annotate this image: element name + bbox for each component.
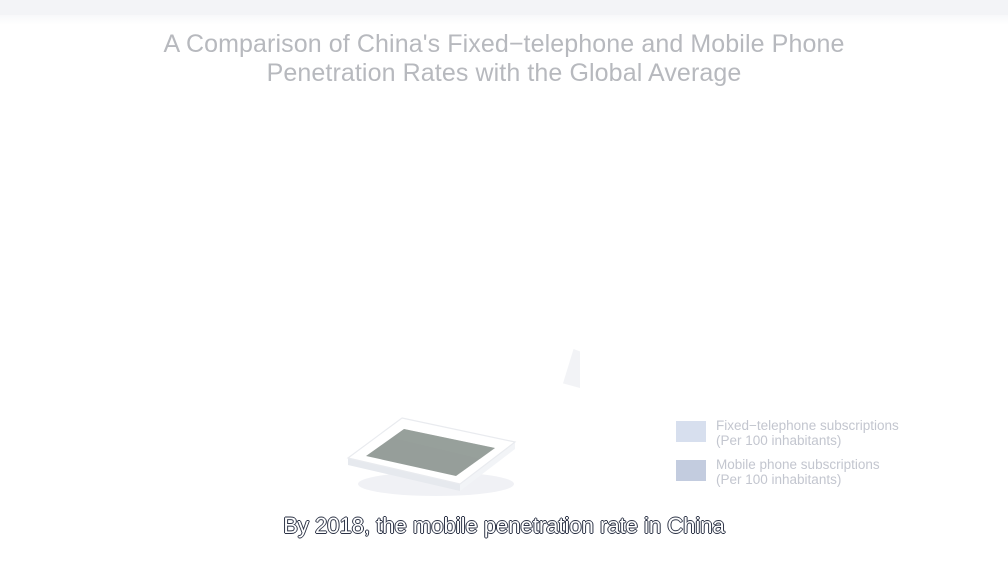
legend-label-fixed-telephone: Fixed−telephone subscriptions (Per 100 i… bbox=[716, 418, 899, 448]
narration-caption: By 2018, the mobile penetration rate in … bbox=[0, 512, 1008, 540]
legend-swatch-mobile-phone bbox=[676, 460, 706, 481]
chart-legend: Fixed−telephone subscriptions (Per 100 i… bbox=[676, 418, 976, 496]
top-edge-band bbox=[0, 0, 1008, 15]
chart-title: A Comparison of China's Fixed−telephone … bbox=[0, 30, 1008, 88]
chart-plot-area bbox=[70, 105, 970, 405]
top-edge-band-fade bbox=[0, 15, 1008, 25]
legend-item-fixed-telephone[interactable]: Fixed−telephone subscriptions (Per 100 i… bbox=[676, 418, 976, 448]
animation-frame: A Comparison of China's Fixed−telephone … bbox=[0, 0, 1008, 567]
legend-label-mobile-phone: Mobile phone subscriptions (Per 100 inha… bbox=[716, 457, 880, 487]
legend-swatch-fixed-telephone bbox=[676, 421, 706, 442]
tablet-device-illustration bbox=[340, 412, 525, 497]
legend-item-mobile-phone[interactable]: Mobile phone subscriptions (Per 100 inha… bbox=[676, 457, 976, 487]
